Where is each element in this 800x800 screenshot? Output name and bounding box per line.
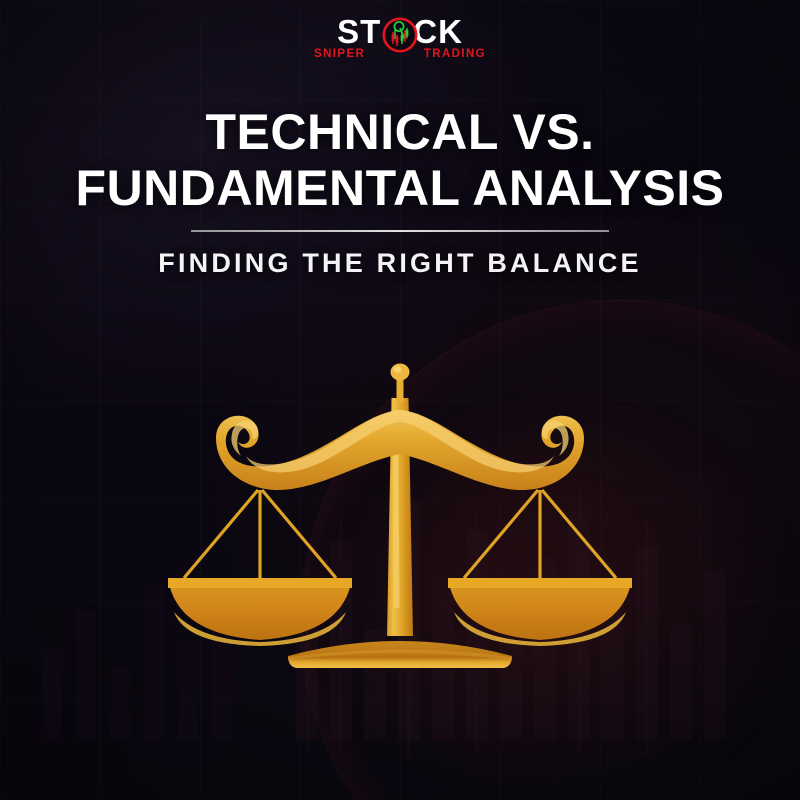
scales-finial <box>391 364 410 403</box>
scales-strings-right <box>464 490 616 578</box>
scales-pan-left <box>168 578 352 646</box>
brand-logo-inner: ST CK <box>314 16 486 68</box>
headline-subtitle: FINDING THE RIGHT BALANCE <box>40 248 760 279</box>
brand-logo[interactable]: ST CK <box>0 14 800 70</box>
brand-tagline-right: TRADING <box>424 48 486 61</box>
headline-line-2: FUNDAMENTAL ANALYSIS <box>40 160 760 216</box>
headline-line-1: TECHNICAL VS. <box>40 104 760 160</box>
brand-tagline-left: SNIPER <box>314 48 365 61</box>
scales-pan-right <box>448 578 632 646</box>
brand-wordmark-right: CK <box>413 16 463 48</box>
balance-scales-illustration <box>140 350 660 680</box>
poster-canvas: ST CK <box>0 0 800 800</box>
brand-wordmark-left: ST <box>337 16 381 48</box>
headline-divider <box>191 230 609 232</box>
scales-strings-left <box>184 490 336 578</box>
scales-base <box>288 641 512 668</box>
brand-tagline: SNIPER TRADING <box>314 46 486 62</box>
balance-scales-svg <box>140 350 660 680</box>
headline-block: TECHNICAL VS. FUNDAMENTAL ANALYSIS FINDI… <box>40 104 760 279</box>
